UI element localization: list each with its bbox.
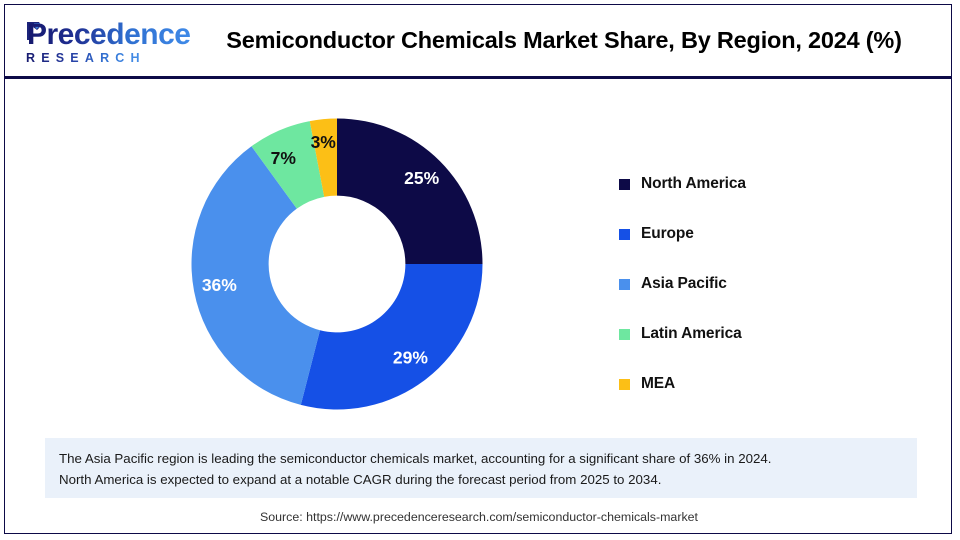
- legend-item-label: Europe: [641, 225, 694, 243]
- donut-slice-label: 29%: [393, 347, 428, 367]
- note-line-1: The Asia Pacific region is leading the s…: [59, 448, 903, 469]
- logo-subtitle: RESEARCH: [26, 51, 146, 65]
- donut-chart-svg: 25%29%36%7%3%: [188, 115, 486, 413]
- donut-slice-label: 25%: [404, 168, 439, 188]
- chart-note-box: The Asia Pacific region is leading the s…: [45, 438, 917, 498]
- legend-item-latin-america[interactable]: Latin America: [619, 309, 919, 359]
- logo-wordmark: Precedence: [27, 19, 190, 51]
- note-line-2: North America is expected to expand at a…: [59, 469, 903, 490]
- legend-item-asia-pacific[interactable]: Asia Pacific: [619, 259, 919, 309]
- donut-chart: 25%29%36%7%3%: [188, 115, 486, 413]
- legend-item-europe[interactable]: Europe: [619, 209, 919, 259]
- legend-swatch-icon: [619, 279, 630, 290]
- legend-swatch-icon: [619, 229, 630, 240]
- legend-swatch-icon: [619, 179, 630, 190]
- legend-item-label: Asia Pacific: [641, 275, 727, 293]
- legend-item-label: Latin America: [641, 325, 742, 343]
- legend-swatch-icon: [619, 329, 630, 340]
- card-header: Precedence RESEARCH Semiconductor Chemic…: [5, 5, 951, 79]
- chart-legend: North America Europe Asia Pacific Latin …: [619, 159, 919, 409]
- chart-plot-area: 25%29%36%7%3% North America Europe Asia …: [5, 79, 951, 429]
- donut-slice-label: 7%: [271, 148, 297, 168]
- donut-slice-label: 3%: [311, 132, 337, 152]
- donut-slice[interactable]: [337, 119, 483, 265]
- donut-slices: [191, 119, 482, 410]
- legend-item-label: North America: [641, 175, 746, 193]
- donut-slice[interactable]: [301, 264, 483, 410]
- source-caption: Source: https://www.precedenceresearch.c…: [5, 510, 953, 524]
- legend-swatch-icon: [619, 379, 630, 390]
- chart-card: Precedence RESEARCH Semiconductor Chemic…: [4, 4, 952, 534]
- legend-item-north-america[interactable]: North America: [619, 159, 919, 209]
- precedence-research-logo: Precedence RESEARCH: [19, 19, 174, 67]
- page-title: Semiconductor Chemicals Market Share, By…: [195, 5, 933, 76]
- legend-item-label: MEA: [641, 375, 675, 393]
- legend-item-mea[interactable]: MEA: [619, 359, 919, 409]
- donut-slice-label: 36%: [202, 275, 237, 295]
